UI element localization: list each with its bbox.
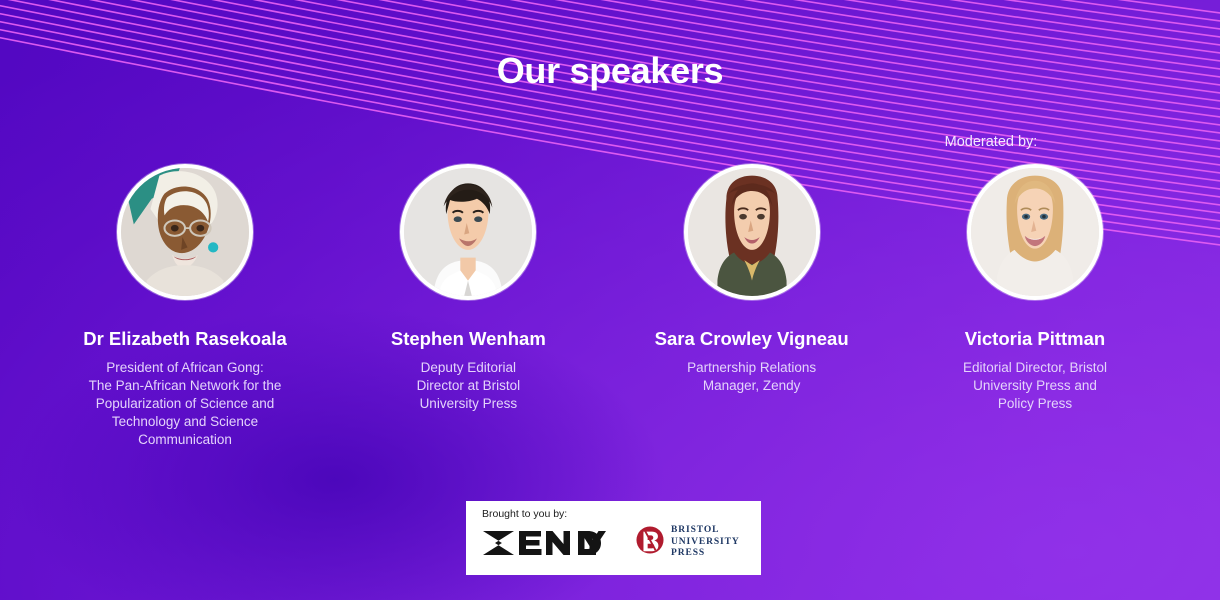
speaker-role-line: Deputy Editorial <box>417 359 521 377</box>
speaker-role-line: Communication <box>89 431 282 449</box>
bristol-logo-line: BRISTOL <box>671 525 740 537</box>
page-title: Our speakers <box>0 50 1220 92</box>
speaker-role-line: The Pan-African Network for the <box>89 377 282 395</box>
speaker-role-line: Policy Press <box>963 395 1107 413</box>
speaker-role: Editorial Director, Bristol University P… <box>963 359 1107 413</box>
sponsor-panel: Brought to you by: <box>466 501 761 575</box>
speaker-card: Dr Elizabeth Rasekoala President of Afri… <box>60 164 310 449</box>
speaker-role: Deputy Editorial Director at Bristol Uni… <box>417 359 521 413</box>
speaker-name: Dr Elizabeth Rasekoala <box>83 328 287 350</box>
speaker-card: Stephen Wenham Deputy Editorial Director… <box>343 164 593 413</box>
brought-to-you-by-label: Brought to you by: <box>482 509 612 520</box>
speaker-role-line: University Press and <box>963 377 1107 395</box>
bristol-logo-text: BRISTOL UNIVERSITY PRESS <box>671 525 740 560</box>
speaker-name: Sara Crowley Vigneau <box>655 328 849 350</box>
speaker-name: Stephen Wenham <box>391 328 546 350</box>
slide-root: Our speakers Moderated by: <box>0 0 1220 600</box>
speaker-role: Partnership Relations Manager, Zendy <box>687 359 816 395</box>
speakers-row: Dr Elizabeth Rasekoala President of Afri… <box>60 164 1160 449</box>
speaker-role-line: Editorial Director, Bristol <box>963 359 1107 377</box>
avatar <box>121 168 249 296</box>
bristol-logo-line: UNIVERSITY <box>671 537 740 549</box>
speaker-card: Sara Crowley Vigneau Partnership Relatio… <box>627 164 877 395</box>
speaker-role-line: University Press <box>417 395 521 413</box>
speaker-role-line: Popularization of Science and <box>89 395 282 413</box>
bristol-university-press-logo: BRISTOL UNIVERSITY PRESS <box>636 525 740 560</box>
avatar-ring <box>400 164 536 300</box>
speaker-role-line: Director at Bristol <box>417 377 521 395</box>
bristol-logo-line: PRESS <box>671 548 740 560</box>
speaker-role-line: Manager, Zendy <box>687 377 816 395</box>
speaker-name: Victoria Pittman <box>965 328 1106 350</box>
zendy-logo <box>482 529 612 562</box>
speaker-role-line: Partnership Relations <box>687 359 816 377</box>
avatar <box>688 168 816 296</box>
avatar <box>971 168 1099 296</box>
avatar-ring <box>684 164 820 300</box>
speaker-card: Victoria Pittman Editorial Director, Bri… <box>910 164 1160 413</box>
speaker-role-line: President of African Gong: <box>89 359 282 377</box>
avatar <box>404 168 532 296</box>
moderated-by-label: Moderated by: <box>886 134 1096 150</box>
speaker-role-line: Technology and Science <box>89 413 282 431</box>
avatar-ring <box>967 164 1103 300</box>
speaker-role: President of African Gong: The Pan-Afric… <box>89 359 282 449</box>
bristol-roundel-icon <box>636 526 664 559</box>
avatar-ring <box>117 164 253 300</box>
sponsor-left-group: Brought to you by: <box>482 509 612 562</box>
